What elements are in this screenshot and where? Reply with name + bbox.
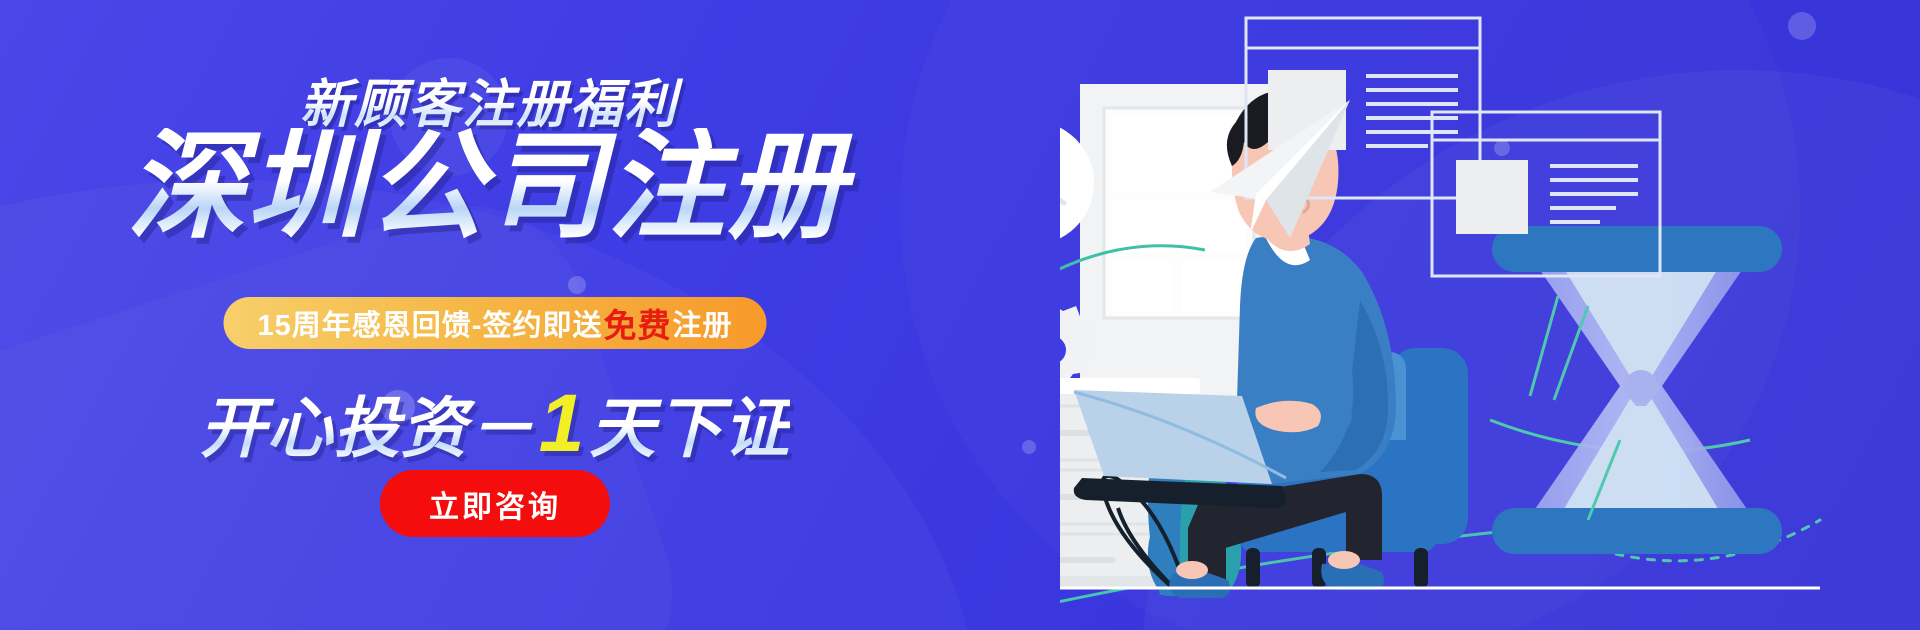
promo-pill-highlight: 免费 [602,299,672,347]
subline-before: 开心投资－ [200,391,535,465]
consult-now-label: 立即咨询 [429,482,561,526]
promo-pill-prefix: 15周年感恩回馈-签约即送 [258,302,603,344]
illustration-scene [1060,0,1920,630]
banner-copy: 新顾客注册福利 深圳公司注册 15周年感恩回馈-签约即送免费注册 开心投资－1天… [0,0,990,630]
subline-after: 天下证 [589,391,790,465]
subline-number: 1 [535,378,590,469]
promo-pill-suffix: 注册 [672,302,732,344]
subline-text: 开心投资－1天下证 [0,375,990,471]
decorative-dot-subline [1022,440,1036,454]
promo-banner: 新顾客注册福利 深圳公司注册 15周年感恩回馈-签约即送免费注册 开心投资－1天… [0,0,1920,630]
document-card-thumb-2 [1456,160,1528,234]
consult-now-button[interactable]: 立即咨询 [380,470,610,537]
document-card-lines-2 [1550,166,1638,222]
promo-pill: 15周年感恩回馈-签约即送免费注册 [224,297,767,349]
headline-text: 深圳公司注册 [0,128,990,246]
